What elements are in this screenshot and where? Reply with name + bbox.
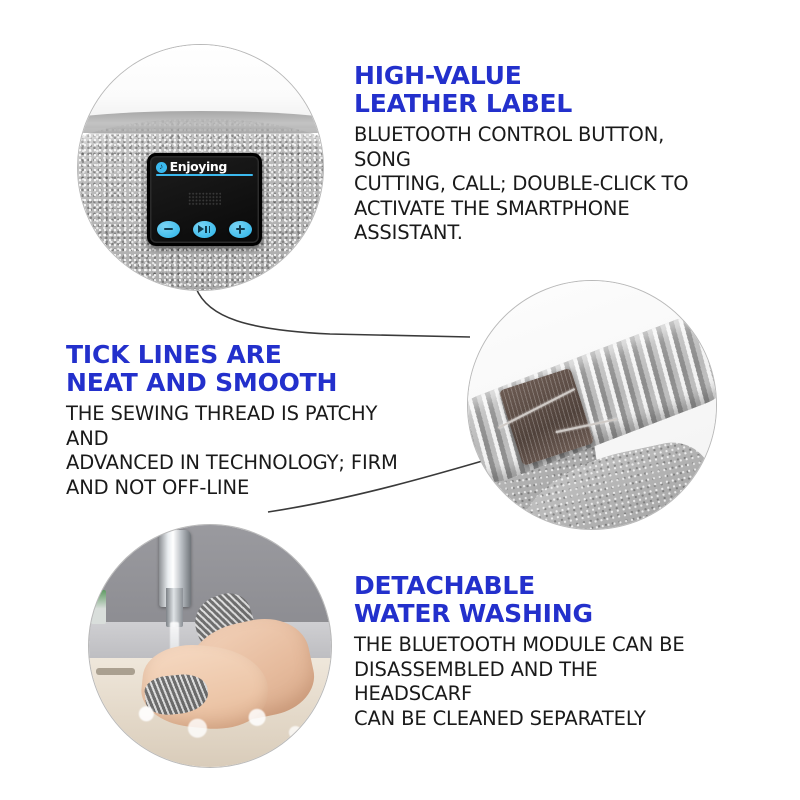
volume-up-button[interactable] <box>229 221 252 238</box>
bluetooth-control-patch-photo: ♪ Enjoying <box>77 44 324 291</box>
minus-icon <box>164 228 173 230</box>
patch-brand-row: ♪ Enjoying <box>156 161 253 174</box>
play-pause-button[interactable] <box>193 221 216 238</box>
music-note-icon: ♪ <box>156 162 167 173</box>
feature-body: THE BLUETOOTH MODULE CAN BE DISASSEMBLED… <box>354 633 714 731</box>
connector-line-1 <box>196 288 470 337</box>
sink-drain-slot <box>96 668 135 675</box>
feature-heading: TICK LINES ARE NEAT AND SMOOTH <box>66 341 406 397</box>
feature-body: BLUETOOTH CONTROL BUTTON, SONG CUTTING, … <box>354 123 706 246</box>
feature-text-tick-lines-are-neat-and-smooth: TICK LINES ARE NEAT AND SMOOTH THE SEWIN… <box>66 341 406 500</box>
hand-washing-photo <box>88 524 332 768</box>
infographic-canvas: ♪ Enjoying <box>0 0 800 800</box>
brand-underline-rule <box>156 174 253 176</box>
stitched-seam-photo <box>467 280 717 530</box>
soap-suds <box>108 685 321 758</box>
control-patch: ♪ Enjoying <box>147 153 262 246</box>
feature-heading: DETACHABLE WATER WASHING <box>354 572 714 628</box>
feature-body: THE SEWING THREAD IS PATCHY AND ADVANCED… <box>66 402 406 500</box>
volume-down-button[interactable] <box>157 221 180 238</box>
feature-text-high-value-leather-label: HIGH-VALUE LEATHER LABEL BLUETOOTH CONTR… <box>354 62 706 246</box>
feature-heading: HIGH-VALUE LEATHER LABEL <box>354 62 706 118</box>
knit-hem-edge <box>77 111 324 133</box>
patch-button-row <box>156 221 253 239</box>
play-pause-icon <box>198 225 210 233</box>
plus-icon <box>236 225 245 234</box>
speaker-grille <box>188 192 221 205</box>
brand-label: Enjoying <box>170 161 227 174</box>
soap-bottle <box>91 590 106 624</box>
feature-text-detachable-water-washing: DETACHABLE WATER WASHING THE BLUETOOTH M… <box>354 572 714 731</box>
faucet-spout <box>166 588 183 627</box>
